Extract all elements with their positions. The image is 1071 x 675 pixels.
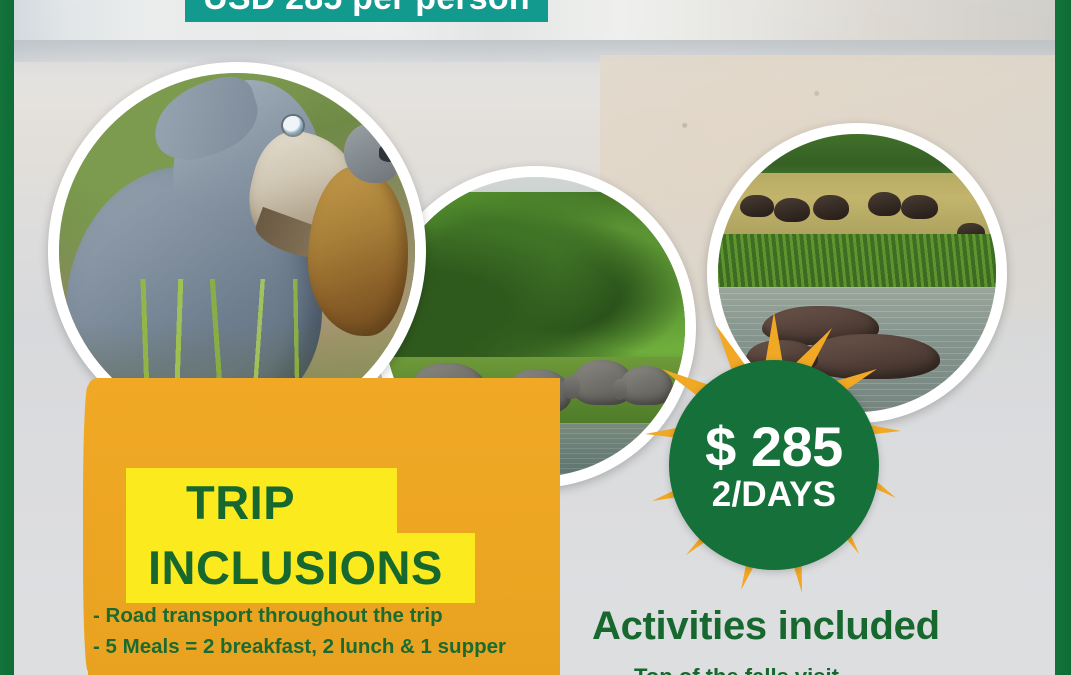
- price-banner-text: USD 285 per person: [203, 0, 530, 18]
- forest-canopy: [385, 192, 685, 378]
- trip-heading-line2-text: INCLUSIONS: [126, 533, 475, 603]
- price-badge: $ 285 2/DAYS: [645, 312, 903, 612]
- price-badge-circle: $ 285 2/DAYS: [669, 360, 879, 570]
- price-amount: $ 285: [705, 419, 843, 475]
- photo-shoebill-background: [59, 73, 415, 429]
- list-item: - Road transport throughout the trip: [93, 600, 565, 631]
- trip-poster: USD 285 per person: [0, 0, 1071, 675]
- buffalo-shape: [740, 195, 773, 217]
- list-item: - 5 Meals = 2 breakfast, 2 lunch & 1 sup…: [93, 631, 565, 662]
- price-banner: USD 285 per person: [185, 0, 548, 22]
- trip-heading-line1: TRIP: [126, 468, 397, 538]
- buffalo-shape: [813, 195, 849, 220]
- left-green-border: [0, 0, 14, 675]
- trip-heading-line2: INCLUSIONS: [126, 533, 475, 603]
- buffalo-shape: [901, 195, 937, 219]
- right-green-border: [1055, 0, 1071, 675]
- buffalo-shape: [774, 198, 810, 222]
- trip-inclusions-list: - Road transport throughout the trip - 5…: [93, 600, 565, 662]
- duck-bill-shape: [379, 144, 411, 162]
- buffalo-shape: [868, 192, 901, 216]
- shoebill-eye-shape: [283, 116, 303, 136]
- price-duration: 2/DAYS: [712, 477, 836, 512]
- trip-inclusions-panel: TRIP INCLUSIONS - Road transport through…: [88, 378, 560, 675]
- activities-title: Activities included: [592, 606, 940, 646]
- trip-heading-line1-text: TRIP: [126, 468, 397, 538]
- activities-item: Top of the falls visit: [634, 664, 940, 675]
- activities-section: Activities included Top of the falls vis…: [592, 606, 940, 675]
